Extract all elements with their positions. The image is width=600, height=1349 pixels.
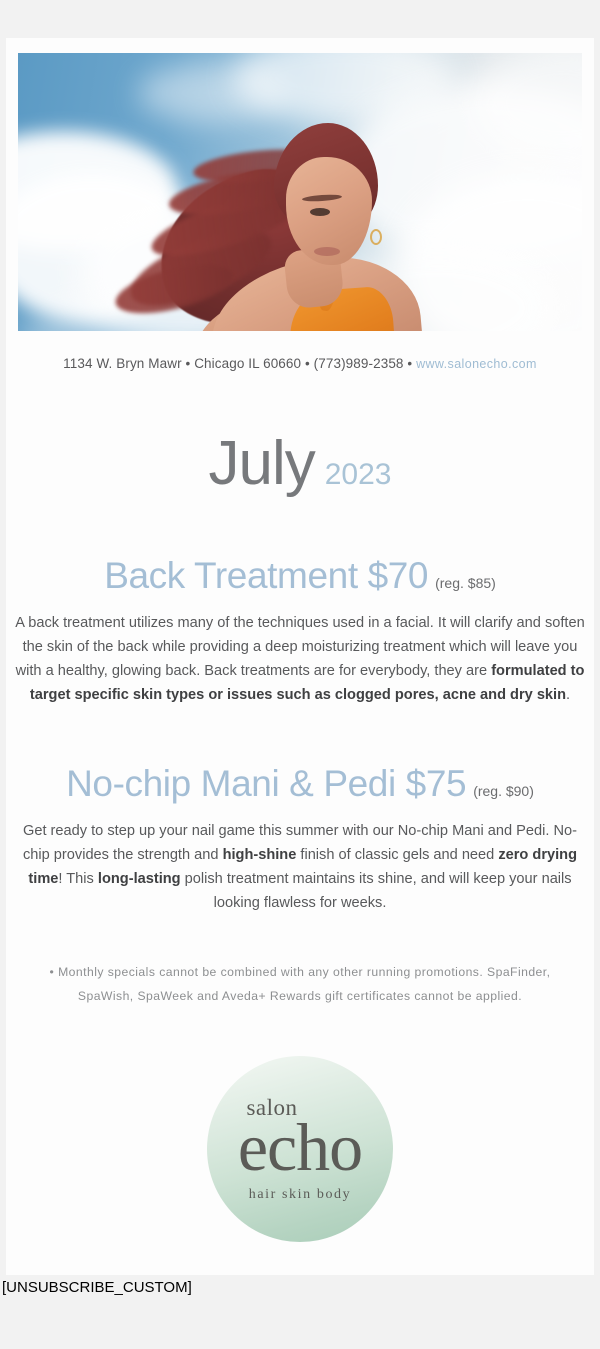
issue-year: 2023 [325,458,392,491]
contact-line: 1134 W. Bryn Mawr • Chicago IL 60660 • (… [6,356,594,371]
issue-month: July [208,429,314,498]
contact-separator: • [404,356,417,371]
hero-image [18,53,582,331]
unsubscribe-link[interactable]: [UNSUBSCRIBE_CUSTOM] [2,1279,192,1296]
model-lips [314,247,340,256]
email-card: 1134 W. Bryn Mawr • Chicago IL 60660 • (… [6,38,594,1275]
offer-regular-price: (reg. $90) [473,783,534,799]
contact-separator: • [182,356,195,371]
logo-tagline: hair skin body [249,1187,352,1203]
salon-echo-logo: salon echo hair skin body [207,1056,393,1242]
website-link[interactable]: www.salonecho.com [416,357,537,371]
emphasis-text: long-lasting [98,871,181,887]
model-eye [310,208,330,216]
plain-text: ! This [58,871,97,887]
contact-city: Chicago IL 60660 [194,356,301,371]
model-figure [18,53,582,331]
offer-title: No-chip Mani & Pedi $75 [66,763,466,804]
contact-address: 1134 W. Bryn Mawr [63,356,182,371]
plain-text: finish of classic gels and need [296,847,498,863]
issue-header: July2023 [6,428,594,499]
offer-description: Get ready to step up your nail game this… [11,819,589,915]
fine-print-line: SpaWish, SpaWeek and Aveda+ Rewards gift… [6,984,594,1008]
offer-heading: No-chip Mani & Pedi $75(reg. $90) [6,763,594,805]
earring-icon [370,229,382,245]
plain-text: . [566,687,570,703]
fine-print: • Monthly specials cannot be combined wi… [6,960,594,1008]
contact-separator: • [301,356,314,371]
offer-regular-price: (reg. $85) [435,575,496,591]
logo-echo-text: echo [238,1113,362,1181]
email-page: 1134 W. Bryn Mawr • Chicago IL 60660 • (… [0,0,600,1349]
offer-heading: Back Treatment $70(reg. $85) [6,555,594,597]
fine-print-line: • Monthly specials cannot be combined wi… [6,960,594,984]
offer-section-back-treatment: Back Treatment $70(reg. $85) A back trea… [6,555,594,707]
offer-section-no-chip-mani-pedi: No-chip Mani & Pedi $75(reg. $90) Get re… [6,763,594,915]
plain-text: polish treatment maintains its shine, an… [181,871,572,911]
contact-phone: (773)989-2358 [314,356,404,371]
offer-description: A back treatment utilizes many of the te… [11,611,589,707]
emphasis-text: high-shine [223,847,297,863]
offer-title: Back Treatment $70 [104,555,428,596]
